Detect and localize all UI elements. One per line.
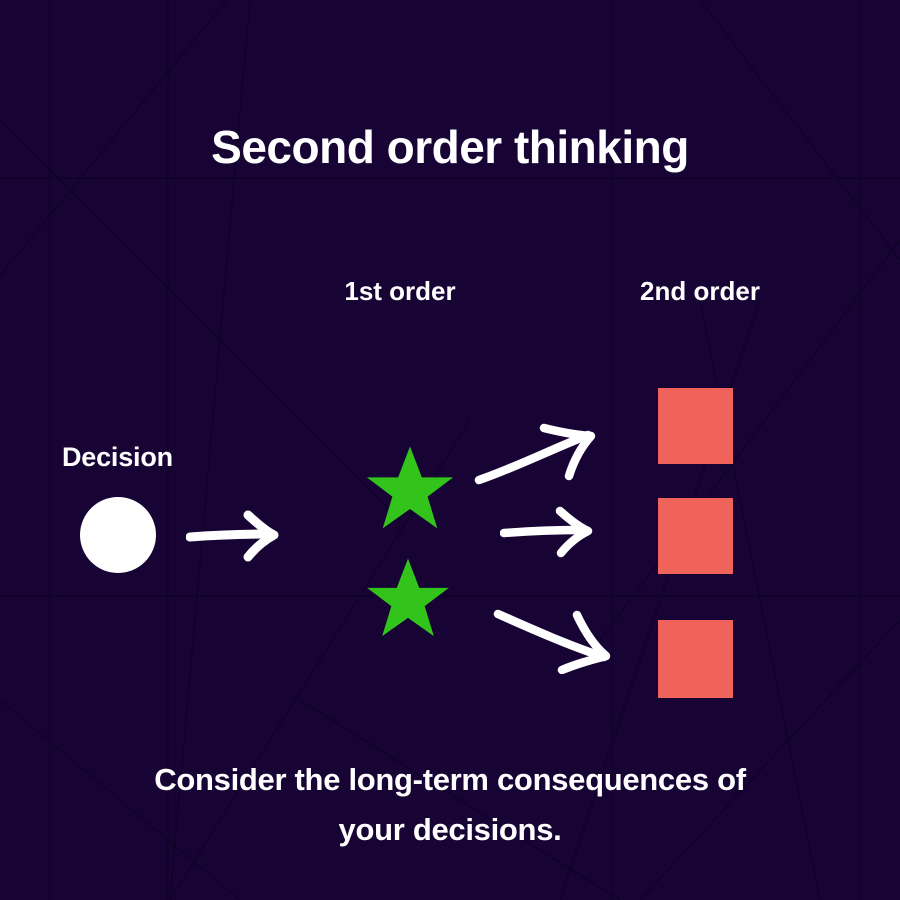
arrow-decision-to-first-icon — [186, 505, 286, 567]
second-order-node-square-3 — [658, 620, 733, 698]
caption-line-2: your decisions. — [0, 812, 900, 848]
first-order-node-star-1 — [366, 444, 454, 530]
page-title: Second order thinking — [0, 122, 900, 173]
caption-line-1: Consider the long-term consequences of — [0, 762, 900, 798]
arrow-first-to-second-up-icon — [472, 418, 604, 490]
second-order-node-square-2 — [658, 498, 733, 574]
infographic-canvas: Second order thinking 1st order 2nd orde… — [0, 0, 900, 900]
first-order-node-star-2 — [366, 557, 450, 637]
decision-label: Decision — [62, 442, 173, 473]
column-label-second-order: 2nd order — [590, 276, 810, 307]
decision-node-circle — [80, 497, 156, 573]
arrow-first-to-second-mid-icon — [500, 500, 600, 562]
arrow-first-to-second-down-icon — [492, 602, 622, 674]
second-order-node-square-1 — [658, 388, 733, 464]
column-label-first-order: 1st order — [290, 276, 510, 307]
